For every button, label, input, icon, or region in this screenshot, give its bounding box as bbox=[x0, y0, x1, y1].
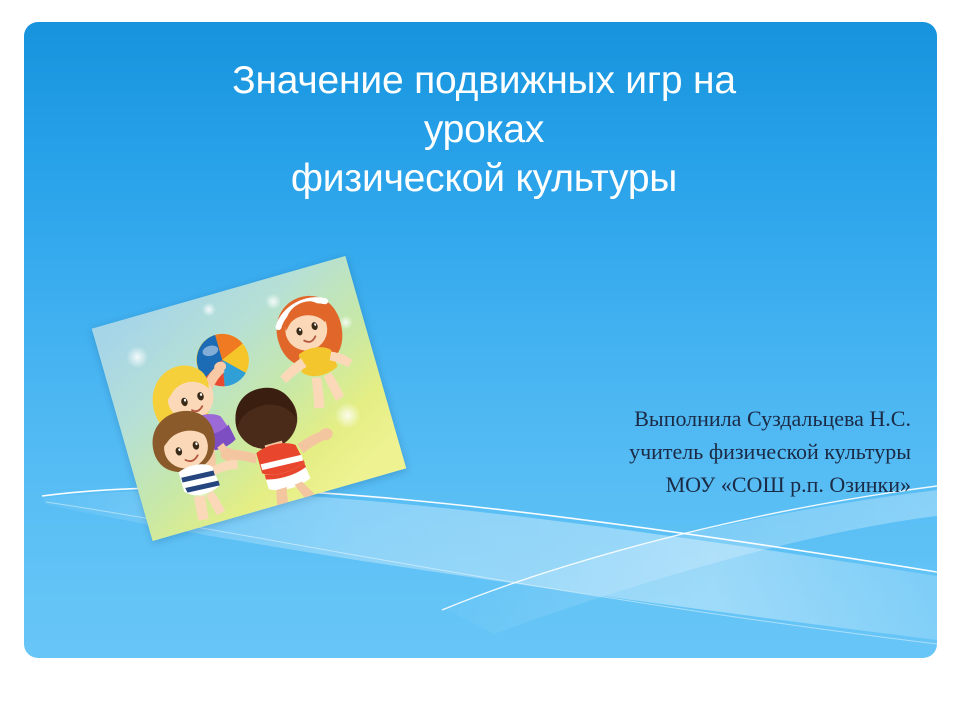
title-line-3: физической культуры bbox=[94, 154, 874, 203]
author-line-name: Выполнила Суздальцева Н.С. bbox=[441, 402, 911, 435]
children-playing-ball-photo bbox=[92, 256, 407, 541]
swoosh-band-secondary bbox=[444, 490, 937, 634]
slide-title: Значение подвижных игр на уроках физичес… bbox=[94, 56, 874, 203]
author-line-role: учитель физической культуры bbox=[441, 435, 911, 468]
children-illustration bbox=[92, 256, 407, 541]
title-line-2: уроках bbox=[94, 105, 874, 154]
slide-stage: Значение подвижных игр на уроках физичес… bbox=[0, 0, 960, 720]
title-line-1: Значение подвижных игр на bbox=[94, 56, 874, 105]
presentation-slide: Значение подвижных игр на уроках физичес… bbox=[24, 22, 937, 658]
author-credit: Выполнила Суздальцева Н.С. учитель физич… bbox=[441, 402, 911, 501]
swoosh-line-descending bbox=[442, 486, 937, 610]
author-line-school: МОУ «СОШ р.п. Озинки» bbox=[441, 468, 911, 501]
